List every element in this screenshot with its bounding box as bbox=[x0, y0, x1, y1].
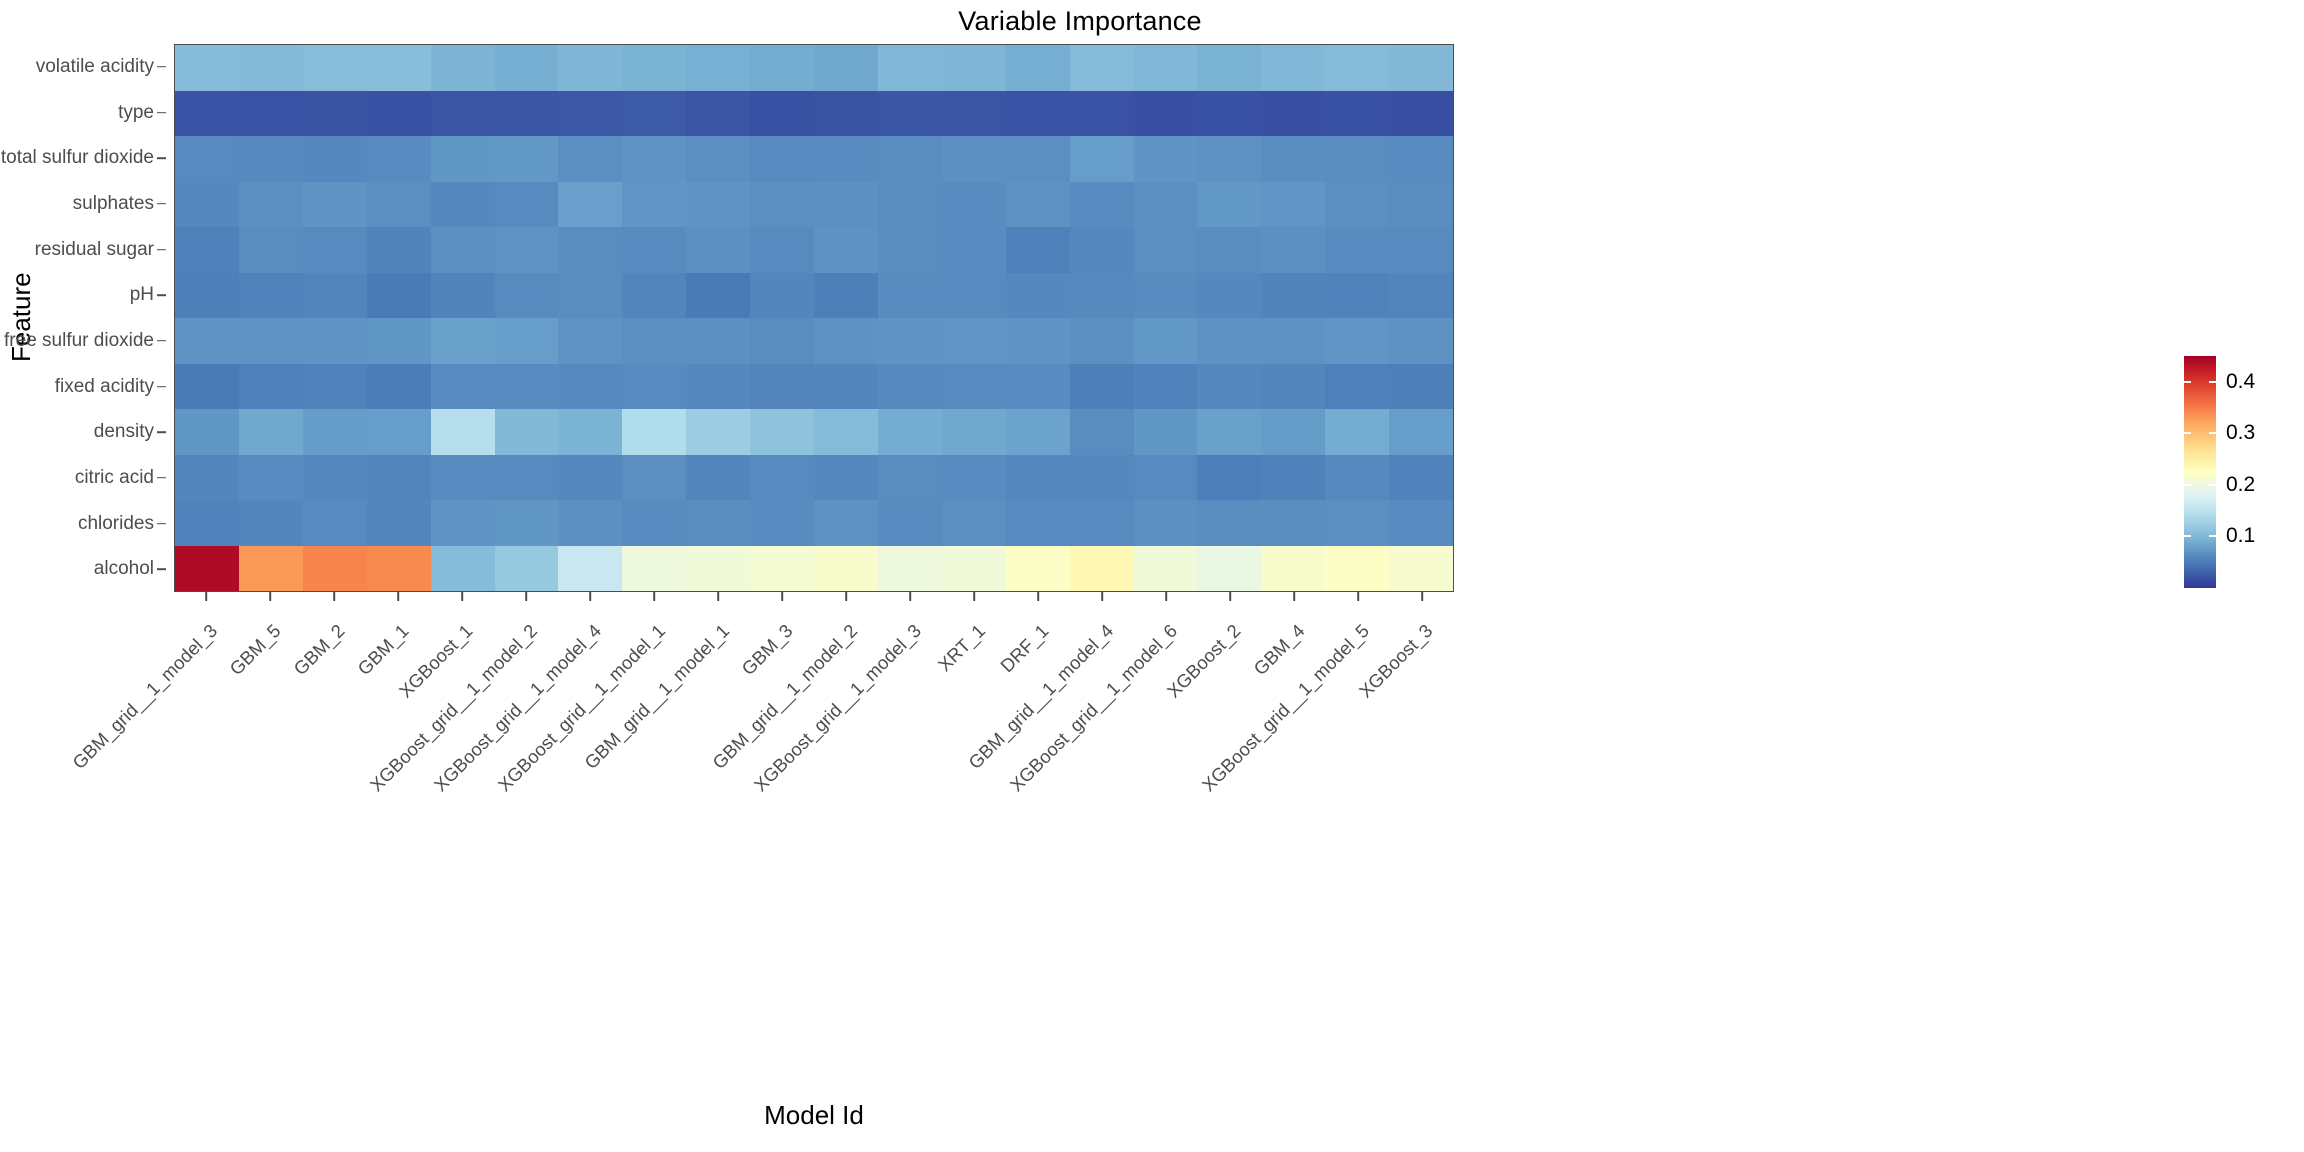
heatmap-cell bbox=[1197, 227, 1261, 273]
heatmap-cell bbox=[558, 409, 622, 455]
heatmap-cell bbox=[622, 182, 686, 228]
heatmap-cell bbox=[1261, 455, 1325, 501]
heatmap-cell bbox=[367, 500, 431, 546]
heatmap-cell bbox=[1006, 364, 1070, 410]
heatmap-cell bbox=[1261, 273, 1325, 319]
heatmap-cell bbox=[431, 455, 495, 501]
x-tick-label: GBM_grid__1_model_3 bbox=[68, 620, 222, 774]
heatmap-cell bbox=[1134, 409, 1198, 455]
heatmap-cell bbox=[1134, 364, 1198, 410]
heatmap-cell bbox=[814, 409, 878, 455]
heatmap-cell bbox=[239, 546, 303, 592]
legend-tick-label: 0.4 bbox=[2226, 370, 2255, 394]
heatmap-cell bbox=[239, 409, 303, 455]
y-tick-mark bbox=[157, 294, 166, 296]
heatmap-cell bbox=[750, 227, 814, 273]
heatmap-cell bbox=[750, 546, 814, 592]
heatmap-cell bbox=[1389, 364, 1453, 410]
heatmap-cell bbox=[239, 318, 303, 364]
heatmap-cell bbox=[1006, 546, 1070, 592]
heatmap-cell bbox=[431, 273, 495, 319]
heatmap-cell bbox=[495, 455, 559, 501]
heatmap-cell bbox=[558, 227, 622, 273]
legend-tick-mark bbox=[2184, 535, 2191, 537]
x-tick-mark bbox=[1229, 592, 1231, 601]
heatmap-cell bbox=[303, 227, 367, 273]
heatmap-cell bbox=[1070, 45, 1134, 91]
x-tick-label: DRF_1 bbox=[997, 620, 1054, 677]
x-tick-mark bbox=[1293, 592, 1295, 601]
heatmap-cell bbox=[1006, 136, 1070, 182]
y-tick-label: volatile acidity bbox=[36, 56, 154, 78]
heatmap-cell bbox=[558, 136, 622, 182]
x-tick-label: XRT_1 bbox=[934, 620, 990, 676]
heatmap-cell bbox=[495, 182, 559, 228]
heatmap-cell bbox=[303, 91, 367, 137]
legend-tick-mark bbox=[2209, 535, 2216, 537]
heatmap-cell bbox=[175, 91, 239, 137]
heatmap-cell bbox=[367, 409, 431, 455]
heatmap-cell bbox=[1197, 364, 1261, 410]
heatmap-cell bbox=[1134, 455, 1198, 501]
heatmap-cell bbox=[814, 45, 878, 91]
heatmap-cell bbox=[1070, 455, 1134, 501]
heatmap-cell bbox=[1325, 500, 1389, 546]
y-tick-label: type bbox=[118, 102, 154, 124]
heatmap-cell bbox=[1006, 91, 1070, 137]
heatmap-cell bbox=[1070, 318, 1134, 364]
heatmap-cell bbox=[367, 364, 431, 410]
heatmap-cell bbox=[686, 500, 750, 546]
heatmap-cell bbox=[175, 182, 239, 228]
heatmap-cell bbox=[239, 455, 303, 501]
heatmap-cell bbox=[558, 546, 622, 592]
heatmap-cell bbox=[750, 409, 814, 455]
heatmap-cell bbox=[1070, 227, 1134, 273]
heatmap-cell bbox=[1070, 273, 1134, 319]
heatmap-cell bbox=[1197, 500, 1261, 546]
heatmap-cell bbox=[1134, 136, 1198, 182]
x-tick-label: GBM_2 bbox=[290, 620, 350, 680]
x-tick-mark bbox=[1037, 592, 1039, 601]
heatmap-cell bbox=[239, 91, 303, 137]
y-tick-mark bbox=[157, 477, 166, 479]
heatmap-cell bbox=[239, 500, 303, 546]
heatmap-cell bbox=[1070, 364, 1134, 410]
heatmap-cell bbox=[1325, 182, 1389, 228]
x-tick-mark bbox=[525, 592, 527, 601]
heatmap-cell bbox=[239, 364, 303, 410]
heatmap-cell bbox=[367, 455, 431, 501]
legend-tick-label: 0.1 bbox=[2226, 524, 2255, 548]
heatmap-cell bbox=[495, 136, 559, 182]
heatmap-cell bbox=[1325, 227, 1389, 273]
heatmap-cell bbox=[1325, 91, 1389, 137]
heatmap-cell bbox=[558, 182, 622, 228]
heatmap-cell bbox=[750, 500, 814, 546]
heatmap-cell bbox=[1197, 45, 1261, 91]
heatmap-cell bbox=[431, 364, 495, 410]
heatmap-cell bbox=[239, 136, 303, 182]
heatmap-cell bbox=[814, 546, 878, 592]
heatmap-cell bbox=[303, 409, 367, 455]
heatmap-cell bbox=[1070, 546, 1134, 592]
y-tick-mark bbox=[157, 386, 166, 388]
x-tick-mark bbox=[269, 592, 271, 601]
heatmap-cell bbox=[878, 136, 942, 182]
heatmap-cell bbox=[686, 364, 750, 410]
heatmap-cell bbox=[1197, 182, 1261, 228]
x-tick-mark bbox=[653, 592, 655, 601]
heatmap-panel bbox=[174, 44, 1454, 592]
y-tick-label: residual sugar bbox=[35, 239, 154, 261]
heatmap-cell bbox=[814, 273, 878, 319]
heatmap-cell bbox=[622, 409, 686, 455]
heatmap-cell bbox=[750, 364, 814, 410]
y-tick-label: total sulfur dioxide bbox=[1, 147, 154, 169]
heatmap-cell bbox=[686, 273, 750, 319]
heatmap-cell bbox=[942, 91, 1006, 137]
heatmap-cell bbox=[303, 318, 367, 364]
y-tick-label: sulphates bbox=[73, 193, 154, 215]
heatmap-cell bbox=[1006, 318, 1070, 364]
heatmap-cell bbox=[878, 409, 942, 455]
y-tick-mark bbox=[157, 66, 166, 68]
x-tick-mark bbox=[589, 592, 591, 601]
y-tick-label: free sulfur dioxide bbox=[4, 330, 154, 352]
heatmap-cell bbox=[175, 273, 239, 319]
heatmap-cell bbox=[942, 455, 1006, 501]
heatmap-cell bbox=[175, 318, 239, 364]
heatmap-cell bbox=[175, 45, 239, 91]
heatmap-cell bbox=[1325, 455, 1389, 501]
heatmap-cell bbox=[1197, 91, 1261, 137]
heatmap-cell bbox=[367, 45, 431, 91]
color-legend: 0.10.20.30.4 bbox=[2184, 356, 2304, 596]
heatmap-cell bbox=[558, 45, 622, 91]
heatmap-cell bbox=[814, 318, 878, 364]
x-tick-label: GBM_5 bbox=[226, 620, 286, 680]
y-tick-mark bbox=[157, 431, 166, 433]
heatmap-cell bbox=[175, 546, 239, 592]
heatmap-cell bbox=[878, 45, 942, 91]
heatmap-cell bbox=[1325, 136, 1389, 182]
legend-tick-label: 0.2 bbox=[2226, 473, 2255, 497]
heatmap-cell bbox=[878, 500, 942, 546]
heatmap-cell bbox=[1389, 546, 1453, 592]
heatmap-cell bbox=[1134, 227, 1198, 273]
heatmap-cell bbox=[1134, 318, 1198, 364]
heatmap-cell bbox=[878, 91, 942, 137]
heatmap-cell bbox=[622, 91, 686, 137]
heatmap-cell bbox=[942, 136, 1006, 182]
heatmap-cell bbox=[1389, 409, 1453, 455]
heatmap-cell bbox=[686, 455, 750, 501]
heatmap-cell bbox=[1070, 409, 1134, 455]
y-tick-mark bbox=[157, 568, 166, 570]
heatmap-cell bbox=[750, 182, 814, 228]
legend-tick-mark bbox=[2184, 381, 2191, 383]
heatmap-cell bbox=[1197, 546, 1261, 592]
heatmap-cell bbox=[1325, 409, 1389, 455]
heatmap-cell bbox=[1389, 273, 1453, 319]
legend-colorbar bbox=[2184, 356, 2216, 588]
heatmap-cell bbox=[622, 318, 686, 364]
heatmap-cell bbox=[1325, 45, 1389, 91]
heatmap-cell bbox=[1389, 136, 1453, 182]
heatmap-cell bbox=[1261, 136, 1325, 182]
x-tick-mark bbox=[1421, 592, 1423, 601]
heatmap-cell bbox=[558, 455, 622, 501]
heatmap-cell bbox=[495, 91, 559, 137]
x-tick-mark bbox=[781, 592, 783, 601]
x-tick-label: GBM_4 bbox=[1250, 620, 1310, 680]
heatmap-cell bbox=[622, 227, 686, 273]
heatmap-cell bbox=[239, 45, 303, 91]
heatmap-cell bbox=[942, 182, 1006, 228]
heatmap-cell bbox=[1389, 318, 1453, 364]
y-tick-mark bbox=[157, 340, 166, 342]
heatmap-cell bbox=[367, 546, 431, 592]
x-tick-mark bbox=[973, 592, 975, 601]
heatmap-cell bbox=[814, 91, 878, 137]
y-tick-label: citric acid bbox=[75, 467, 154, 489]
heatmap-cell bbox=[495, 500, 559, 546]
heatmap-cell bbox=[1134, 45, 1198, 91]
heatmap-cell bbox=[431, 91, 495, 137]
y-tick-label: pH bbox=[130, 284, 154, 306]
y-tick-label: density bbox=[94, 421, 154, 443]
heatmap-cell bbox=[1261, 91, 1325, 137]
heatmap-cell bbox=[303, 182, 367, 228]
heatmap-cell bbox=[686, 318, 750, 364]
heatmap-cell bbox=[1070, 91, 1134, 137]
heatmap-cell bbox=[1134, 546, 1198, 592]
x-tick-mark bbox=[909, 592, 911, 601]
heatmap-cell bbox=[1006, 409, 1070, 455]
heatmap-cell bbox=[1325, 273, 1389, 319]
heatmap-cell bbox=[686, 182, 750, 228]
heatmap-cell bbox=[814, 455, 878, 501]
heatmap-cell bbox=[1134, 182, 1198, 228]
y-tick-mark bbox=[157, 249, 166, 251]
heatmap-cell bbox=[686, 136, 750, 182]
legend-tick-mark bbox=[2209, 381, 2216, 383]
heatmap-cell bbox=[367, 318, 431, 364]
heatmap-cell bbox=[1261, 500, 1325, 546]
x-axis: GBM_grid__1_model_3GBM_5GBM_2GBM_1XGBoos… bbox=[174, 592, 1454, 882]
heatmap-cell bbox=[1389, 227, 1453, 273]
heatmap-cell bbox=[558, 364, 622, 410]
heatmap-cell bbox=[175, 409, 239, 455]
x-tick-mark bbox=[397, 592, 399, 601]
heatmap-cell bbox=[1389, 45, 1453, 91]
x-tick-mark bbox=[1357, 592, 1359, 601]
heatmap-cell bbox=[431, 318, 495, 364]
heatmap-cell bbox=[878, 364, 942, 410]
x-tick-mark bbox=[845, 592, 847, 601]
heatmap-cell bbox=[175, 136, 239, 182]
heatmap-cell bbox=[303, 273, 367, 319]
heatmap-cell bbox=[622, 136, 686, 182]
heatmap-cell bbox=[495, 45, 559, 91]
x-axis-title: Model Id bbox=[174, 1100, 1454, 1131]
heatmap-cell bbox=[750, 91, 814, 137]
heatmap-cell bbox=[1197, 455, 1261, 501]
heatmap-cell bbox=[1261, 227, 1325, 273]
heatmap-cell bbox=[1389, 500, 1453, 546]
x-tick-mark bbox=[1101, 592, 1103, 601]
heatmap-cell bbox=[303, 546, 367, 592]
heatmap-cell bbox=[558, 273, 622, 319]
heatmap-cell bbox=[558, 91, 622, 137]
x-tick-label: GBM_3 bbox=[738, 620, 798, 680]
heatmap-cell bbox=[1261, 546, 1325, 592]
heatmap-cell bbox=[814, 182, 878, 228]
heatmap-cell bbox=[878, 182, 942, 228]
heatmap-cell bbox=[495, 273, 559, 319]
x-tick-mark bbox=[1165, 592, 1167, 601]
y-tick-mark bbox=[157, 523, 166, 525]
heatmap-cell bbox=[942, 227, 1006, 273]
legend-tick-mark bbox=[2209, 484, 2216, 486]
heatmap-cell bbox=[1006, 500, 1070, 546]
heatmap-cell bbox=[1006, 227, 1070, 273]
heatmap-cell bbox=[942, 45, 1006, 91]
x-tick-mark bbox=[333, 592, 335, 601]
heatmap-cell bbox=[686, 409, 750, 455]
heatmap-cell bbox=[431, 136, 495, 182]
heatmap-cell bbox=[1261, 364, 1325, 410]
legend-tick-label: 0.3 bbox=[2226, 421, 2255, 445]
heatmap-cell bbox=[303, 45, 367, 91]
heatmap-cell bbox=[175, 227, 239, 273]
heatmap-cell bbox=[622, 45, 686, 91]
heatmap-cell bbox=[1070, 182, 1134, 228]
heatmap-cell bbox=[1261, 45, 1325, 91]
heatmap-cell bbox=[1197, 318, 1261, 364]
heatmap-cell bbox=[495, 318, 559, 364]
x-tick-mark bbox=[205, 592, 207, 601]
heatmap-cell bbox=[431, 182, 495, 228]
legend-tick-mark bbox=[2184, 432, 2191, 434]
heatmap-cell bbox=[431, 227, 495, 273]
heatmap-cell bbox=[303, 136, 367, 182]
y-tick-label: chlorides bbox=[78, 513, 154, 535]
page-title: Variable Importance bbox=[0, 6, 2160, 37]
heatmap-cell bbox=[1006, 182, 1070, 228]
heatmap-cell bbox=[1389, 182, 1453, 228]
heatmap-cell bbox=[1006, 455, 1070, 501]
heatmap-cell bbox=[1006, 273, 1070, 319]
heatmap-cell bbox=[750, 273, 814, 319]
heatmap-cell bbox=[558, 500, 622, 546]
heatmap-cell bbox=[686, 227, 750, 273]
heatmap-cell bbox=[622, 455, 686, 501]
heatmap-cell bbox=[750, 455, 814, 501]
heatmap-cell bbox=[1389, 91, 1453, 137]
heatmap-cell bbox=[942, 318, 1006, 364]
heatmap-cell bbox=[1197, 273, 1261, 319]
heatmap-cell bbox=[1197, 409, 1261, 455]
heatmap-cell bbox=[622, 500, 686, 546]
y-tick-label: fixed acidity bbox=[55, 376, 154, 398]
heatmap-cell bbox=[431, 45, 495, 91]
heatmap-cell bbox=[1134, 500, 1198, 546]
heatmap-cell bbox=[303, 500, 367, 546]
heatmap-cell bbox=[686, 45, 750, 91]
heatmap-cell bbox=[686, 91, 750, 137]
heatmap-cell bbox=[878, 546, 942, 592]
heatmap-cell bbox=[495, 364, 559, 410]
heatmap-cell bbox=[1261, 182, 1325, 228]
heatmap-cell bbox=[558, 318, 622, 364]
heatmap-cell bbox=[814, 364, 878, 410]
heatmap-cell bbox=[431, 409, 495, 455]
heatmap-cell bbox=[814, 500, 878, 546]
heatmap-cell-grid bbox=[175, 45, 1453, 591]
heatmap-cell bbox=[942, 364, 1006, 410]
heatmap-cell bbox=[878, 227, 942, 273]
heatmap-cell bbox=[1261, 318, 1325, 364]
heatmap-cell bbox=[1325, 318, 1389, 364]
heatmap-cell bbox=[367, 182, 431, 228]
heatmap-cell bbox=[750, 318, 814, 364]
heatmap-cell bbox=[942, 409, 1006, 455]
heatmap-cell bbox=[1134, 91, 1198, 137]
heatmap-cell bbox=[303, 455, 367, 501]
heatmap-cell bbox=[175, 500, 239, 546]
heatmap-cell bbox=[1070, 136, 1134, 182]
heatmap-cell bbox=[495, 227, 559, 273]
heatmap-cell bbox=[1325, 546, 1389, 592]
heatmap-cell bbox=[1389, 455, 1453, 501]
heatmap-cell bbox=[367, 227, 431, 273]
heatmap-cell bbox=[239, 182, 303, 228]
heatmap-cell bbox=[431, 500, 495, 546]
heatmap-cell bbox=[878, 318, 942, 364]
heatmap-cell bbox=[878, 273, 942, 319]
heatmap-cell bbox=[175, 364, 239, 410]
heatmap-cell bbox=[622, 546, 686, 592]
x-tick-mark bbox=[461, 592, 463, 601]
heatmap-cell bbox=[495, 546, 559, 592]
heatmap-cell bbox=[495, 409, 559, 455]
heatmap-cell bbox=[367, 273, 431, 319]
heatmap-cell bbox=[1006, 45, 1070, 91]
heatmap-cell bbox=[1134, 273, 1198, 319]
heatmap-cell bbox=[942, 500, 1006, 546]
heatmap-cell bbox=[878, 455, 942, 501]
y-tick-mark bbox=[157, 112, 166, 114]
x-tick-mark bbox=[717, 592, 719, 601]
heatmap-cell bbox=[367, 136, 431, 182]
x-tick-label: GBM_1 bbox=[354, 620, 414, 680]
heatmap-cell bbox=[942, 273, 1006, 319]
heatmap-cell bbox=[1261, 409, 1325, 455]
heatmap-cell bbox=[367, 91, 431, 137]
legend-tick-mark bbox=[2184, 484, 2191, 486]
y-axis: Feature volatile aciditytypetotal sulfur… bbox=[0, 44, 166, 592]
heatmap-cell bbox=[1070, 500, 1134, 546]
variable-importance-heatmap: Variable Importance Feature volatile aci… bbox=[0, 0, 2304, 1152]
heatmap-cell bbox=[303, 364, 367, 410]
heatmap-cell bbox=[622, 273, 686, 319]
heatmap-cell bbox=[942, 546, 1006, 592]
y-tick-label: alcohol bbox=[94, 558, 154, 580]
heatmap-cell bbox=[814, 227, 878, 273]
heatmap-cell bbox=[175, 455, 239, 501]
